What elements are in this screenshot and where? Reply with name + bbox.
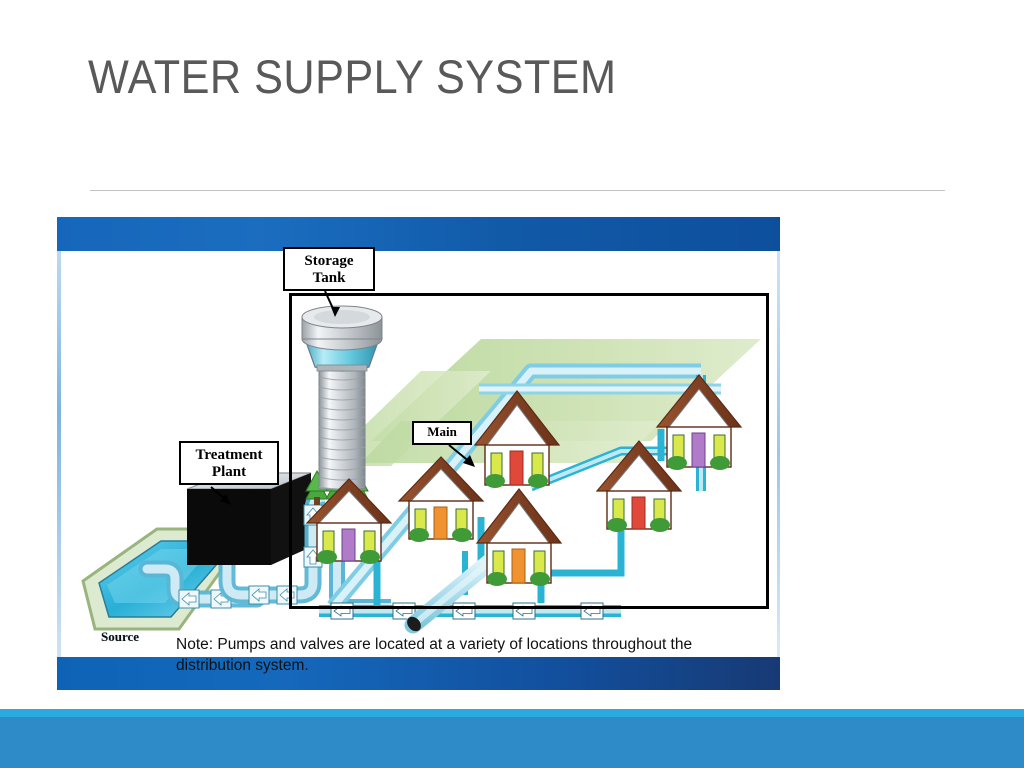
valve-symbol-1 bbox=[179, 590, 199, 608]
diagram-inner-frame bbox=[289, 293, 769, 609]
callout-storage-tank-line1: Storage bbox=[285, 253, 373, 270]
water-supply-system-diagram: Storage Tank Treatment Plant Main Source… bbox=[57, 217, 780, 690]
callout-treatment-plant: Treatment Plant bbox=[179, 441, 279, 485]
slide: WATER SUPPLY SYSTEM bbox=[0, 0, 1024, 768]
diagram-note: Note: Pumps and valves are located at a … bbox=[176, 635, 716, 677]
valve-symbol-3 bbox=[249, 586, 269, 604]
label-source: Source bbox=[101, 629, 139, 645]
footer-accent-strip bbox=[0, 709, 1024, 717]
callout-treatment-plant-line2: Plant bbox=[181, 464, 277, 481]
page-title: WATER SUPPLY SYSTEM bbox=[88, 52, 617, 101]
callout-storage-tank-line2: Tank bbox=[285, 270, 373, 287]
diagram-canvas: Storage Tank Treatment Plant Main Source… bbox=[61, 251, 777, 657]
callout-treatment-plant-line1: Treatment bbox=[181, 447, 277, 464]
callout-main: Main bbox=[412, 421, 472, 445]
diagram-right-edge bbox=[777, 251, 780, 657]
title-divider bbox=[90, 190, 945, 191]
diagram-top-band bbox=[57, 217, 780, 251]
callout-storage-tank: Storage Tank bbox=[283, 247, 375, 291]
diagram-inner-frame-left-rule bbox=[289, 293, 292, 609]
footer-band bbox=[0, 717, 1024, 768]
